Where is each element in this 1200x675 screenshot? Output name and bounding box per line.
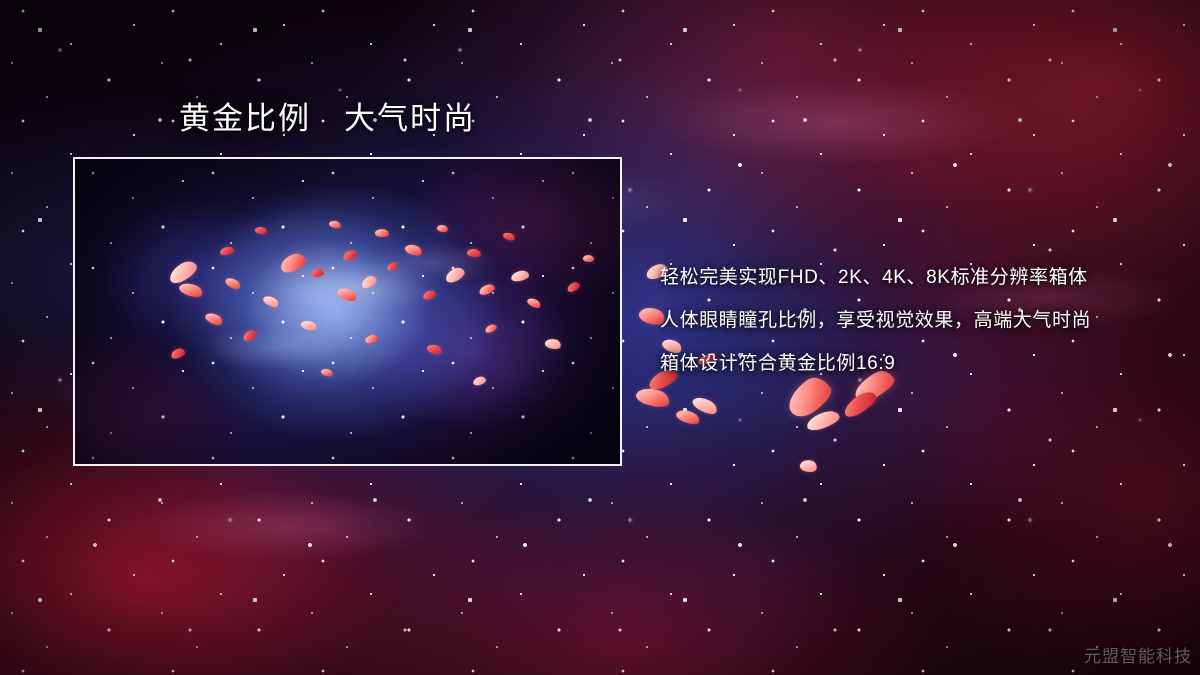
framed-image <box>73 157 622 466</box>
body-line-3: 箱体设计符合黄金比例16:9 <box>660 342 1180 385</box>
petal <box>690 394 719 418</box>
petal <box>426 343 443 357</box>
petal <box>262 294 280 310</box>
petal <box>510 270 529 283</box>
body-copy: 轻松完美实现FHD、2K、4K、8K标准分辨率箱体 人体眼睛瞳孔比例，享受视觉效… <box>660 256 1180 385</box>
petal <box>422 290 437 301</box>
petal <box>360 274 379 290</box>
petal <box>224 275 242 291</box>
petal <box>502 231 516 242</box>
petal <box>242 329 258 343</box>
petal <box>166 258 200 287</box>
image-nebula <box>75 159 620 464</box>
petal <box>364 334 378 345</box>
image-starfield <box>75 159 620 464</box>
petal <box>436 224 449 234</box>
petal <box>170 347 186 360</box>
petal <box>634 385 671 411</box>
slide-canvas: 黄金比例 大气时尚 轻松完美实现FHD、2K、4K、8K标准分辨率箱体 人体眼睛… <box>0 0 1200 675</box>
petal <box>375 228 390 238</box>
petal <box>328 219 342 229</box>
petal <box>278 251 308 276</box>
watermark: 元盟智能科技 <box>1084 642 1192 667</box>
image-vignette <box>75 159 620 464</box>
petal <box>404 242 424 258</box>
petal <box>311 268 325 277</box>
petal <box>799 458 818 474</box>
petal <box>526 296 542 310</box>
page-title: 黄金比例 大气时尚 <box>179 100 476 139</box>
petal <box>443 265 466 285</box>
image-petals <box>75 159 620 464</box>
petal <box>219 246 234 256</box>
body-line-1: 轻松完美实现FHD、2K、4K、8K标准分辨率箱体 <box>660 256 1180 299</box>
petal <box>300 319 318 333</box>
petal <box>675 407 702 427</box>
petal <box>484 323 498 334</box>
petal <box>566 281 581 294</box>
petal <box>336 285 359 303</box>
petal <box>254 226 267 235</box>
petal <box>204 310 225 327</box>
petal <box>805 408 842 433</box>
body-line-2: 人体眼睛瞳孔比例，享受视觉效果，高端大气时尚 <box>660 299 1180 342</box>
petal <box>342 249 358 262</box>
petal <box>320 367 334 378</box>
petal <box>478 283 496 297</box>
petal <box>840 388 879 421</box>
petal <box>544 337 562 351</box>
petal <box>386 261 399 271</box>
petal <box>178 280 205 299</box>
image-nebula-glow <box>75 159 620 464</box>
petal <box>466 248 481 259</box>
petal <box>582 254 594 263</box>
petal <box>472 376 487 387</box>
